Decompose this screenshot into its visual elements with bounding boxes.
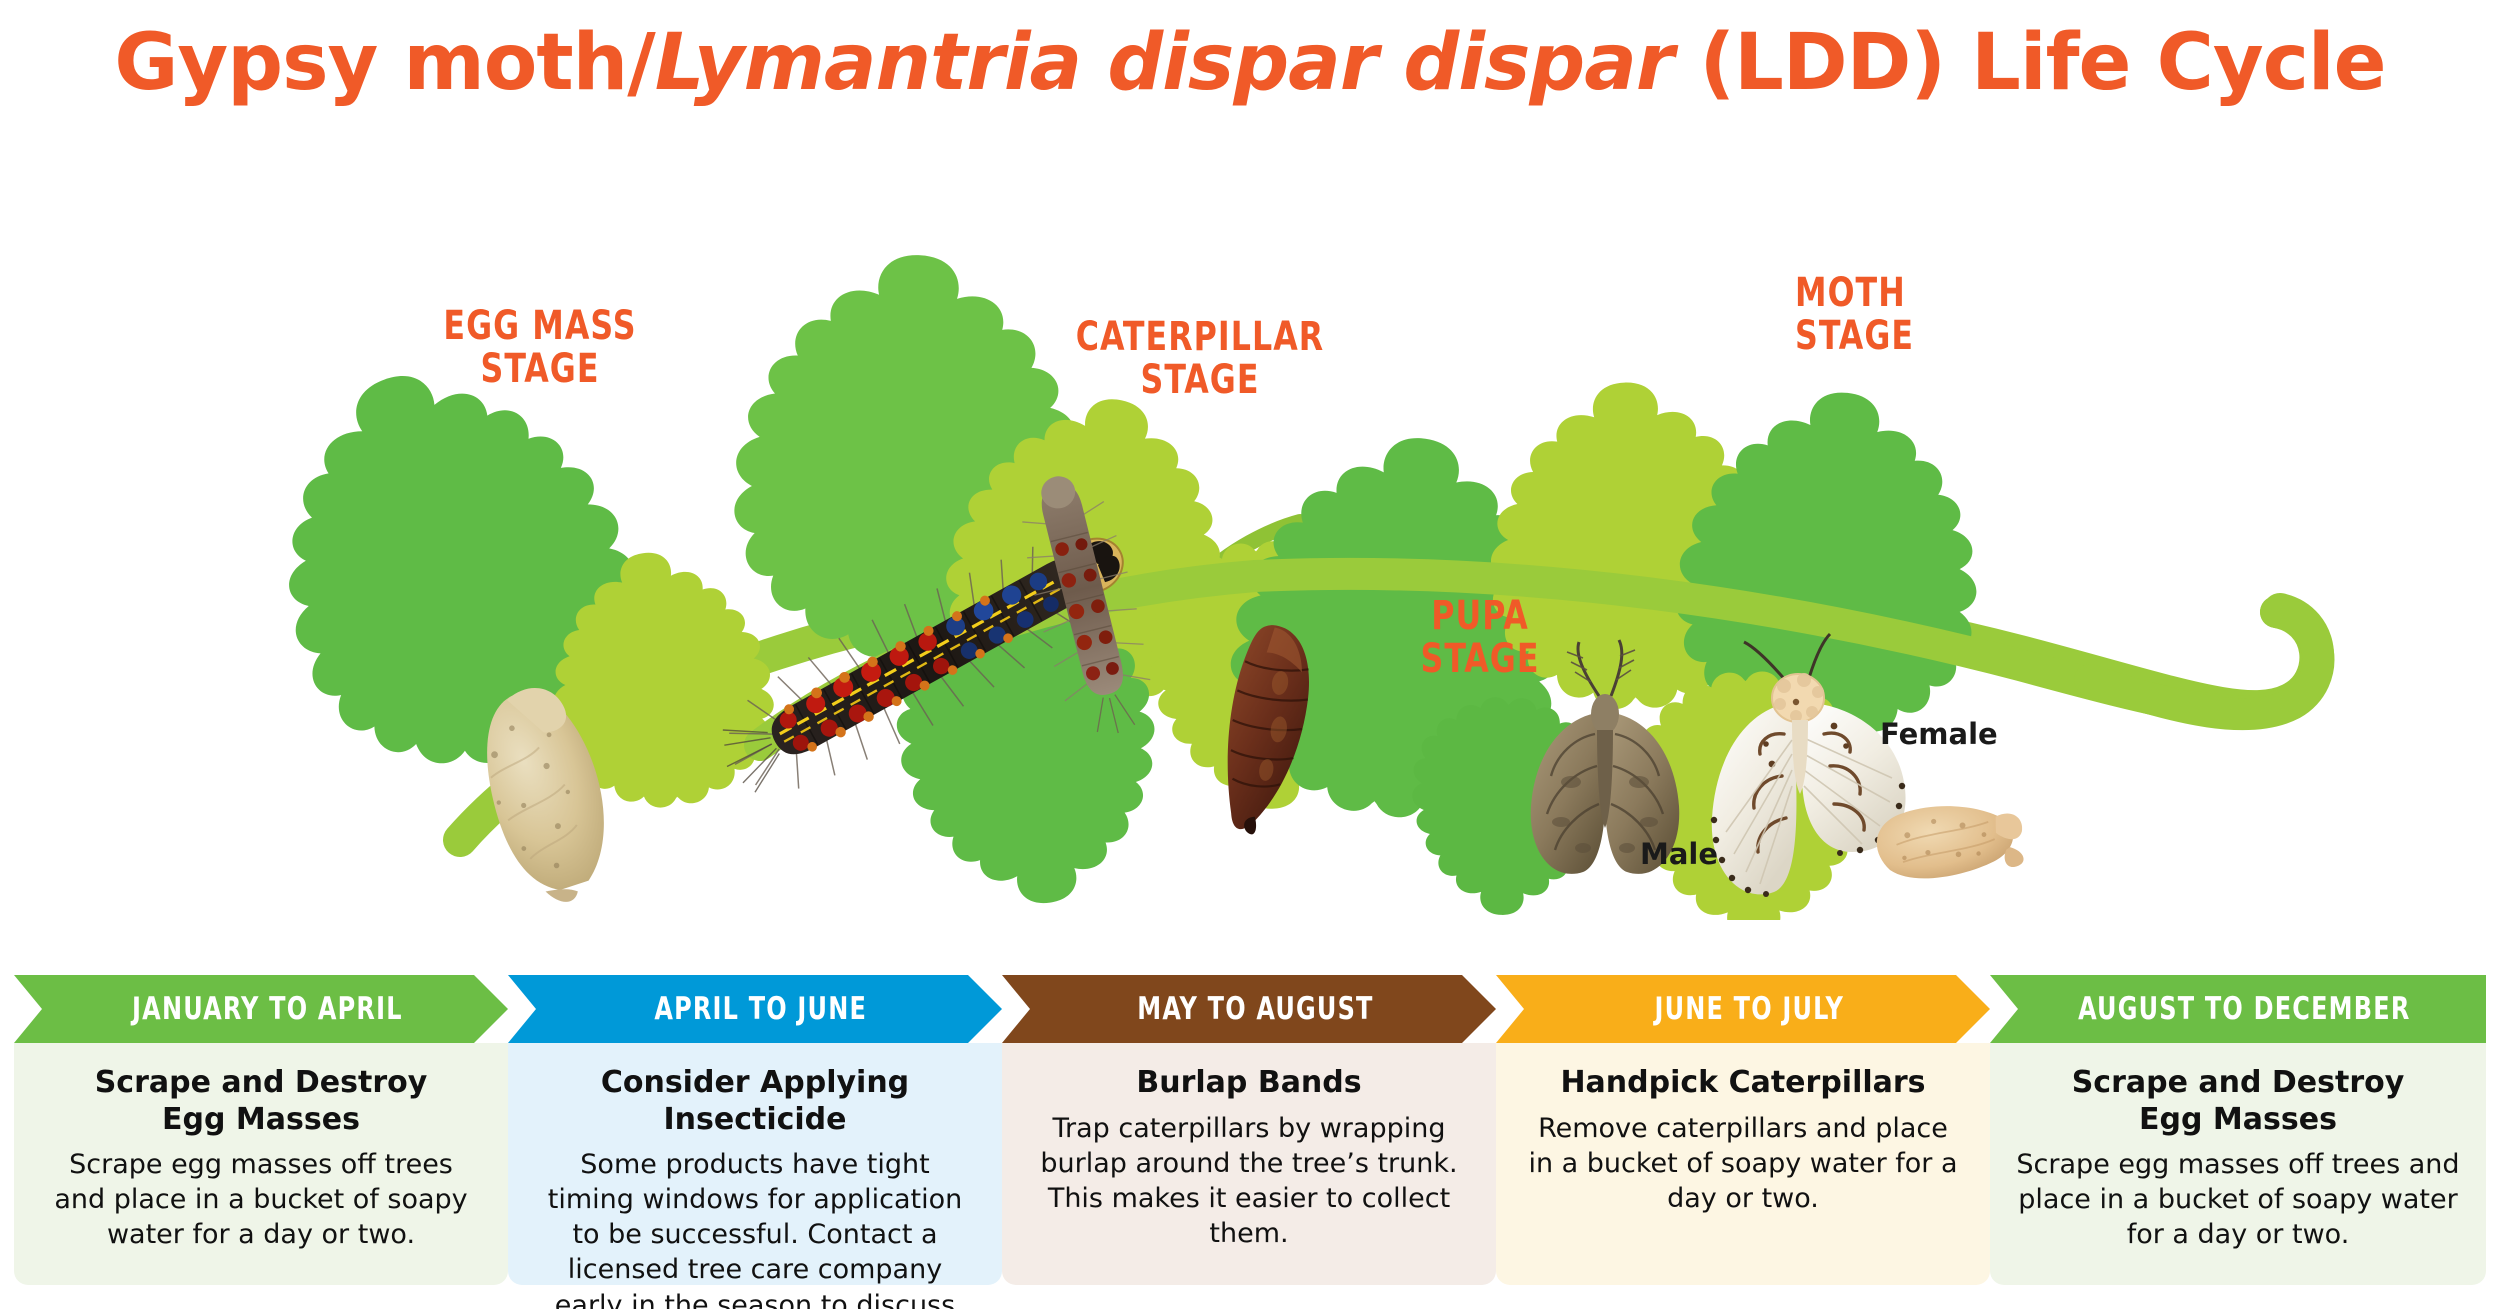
stage-label-moth: MOTH STAGE <box>1795 272 1997 358</box>
panel-banner: AUGUST TO DECEMBER <box>1990 975 2486 1043</box>
panel-body: Scrape and Destroy Egg Masses Scrape egg… <box>1990 1043 2486 1285</box>
title-scientific-name: Lymantria dispar dispar <box>655 18 1674 108</box>
panel-heading: Consider Applying Insecticide <box>534 1065 976 1138</box>
panel-period-label: JUNE TO JULY <box>1642 991 1844 1027</box>
panel-description: Trap caterpillars by wrapping burlap aro… <box>1028 1111 1470 1251</box>
panel-body: Handpick Caterpillars Remove caterpillar… <box>1496 1043 1990 1285</box>
panel-banner: APRIL TO JUNE <box>508 975 1002 1043</box>
panel-period-label: MAY TO AUGUST <box>1125 991 1373 1027</box>
timeline-panel-april-to-june[interactable]: APRIL TO JUNE Consider Applying Insectic… <box>508 975 1002 1295</box>
panel-period-label: JANUARY TO APRIL <box>120 991 403 1027</box>
title-slash: / <box>627 18 655 108</box>
panel-banner: JANUARY TO APRIL <box>14 975 508 1043</box>
panel-body: Burlap Bands Trap caterpillars by wrappi… <box>1002 1043 1496 1285</box>
stage-label-egg-mass: EGG MASS STAGE <box>417 305 663 391</box>
timeline-panel-june-to-july[interactable]: JUNE TO JULY Handpick Caterpillars Remov… <box>1496 975 1990 1295</box>
stage-label-caterpillar: CATERPILLAR STAGE <box>1059 316 1341 402</box>
label-male-moth: Male <box>1640 837 1718 871</box>
panel-description: Remove caterpillars and place in a bucke… <box>1522 1111 1964 1216</box>
panel-heading: Handpick Caterpillars <box>1522 1065 1964 1102</box>
panel-heading: Burlap Bands <box>1028 1065 1470 1102</box>
panel-heading: Scrape and Destroy Egg Masses <box>2016 1065 2460 1138</box>
life-cycle-artwork <box>0 120 2500 920</box>
timeline-panel-january-to-april[interactable]: JANUARY TO APRIL Scrape and Destroy Egg … <box>14 975 508 1295</box>
panel-period-label: AUGUST TO DECEMBER <box>2066 991 2410 1027</box>
panel-heading: Scrape and Destroy Egg Masses <box>40 1065 482 1138</box>
stage-label-pupa: PUPA STAGE <box>1379 595 1581 681</box>
treatment-timeline: JANUARY TO APRIL Scrape and Destroy Egg … <box>0 975 2500 1295</box>
page-title: Gypsy moth/Lymantria dispar dispar (LDD)… <box>0 18 2500 108</box>
panel-body: Consider Applying Insecticide Some produ… <box>508 1043 1002 1285</box>
panel-description: Some products have tight timing windows … <box>534 1147 976 1309</box>
timeline-panel-may-to-august[interactable]: MAY TO AUGUST Burlap Bands Trap caterpil… <box>1002 975 1496 1295</box>
label-female-moth: Female <box>1880 717 1998 751</box>
life-cycle-illustration: EGG MASS STAGE CATERPILLAR STAGE PUPA ST… <box>0 120 2500 920</box>
panel-banner: MAY TO AUGUST <box>1002 975 1496 1043</box>
panel-period-label: APRIL TO JUNE <box>643 991 868 1027</box>
panel-banner: JUNE TO JULY <box>1496 975 1990 1043</box>
panel-body: Scrape and Destroy Egg Masses Scrape egg… <box>14 1043 508 1285</box>
infographic-page: Gypsy moth/Lymantria dispar dispar (LDD)… <box>0 0 2500 1309</box>
title-common-name: Gypsy moth <box>114 18 627 108</box>
timeline-panel-august-to-december[interactable]: AUGUST TO DECEMBER Scrape and Destroy Eg… <box>1990 975 2486 1295</box>
panel-description: Scrape egg masses off trees and place in… <box>2016 1147 2460 1252</box>
title-suffix: (LDD) Life Cycle <box>1673 18 2385 108</box>
panel-description: Scrape egg masses off trees and place in… <box>40 1147 482 1252</box>
